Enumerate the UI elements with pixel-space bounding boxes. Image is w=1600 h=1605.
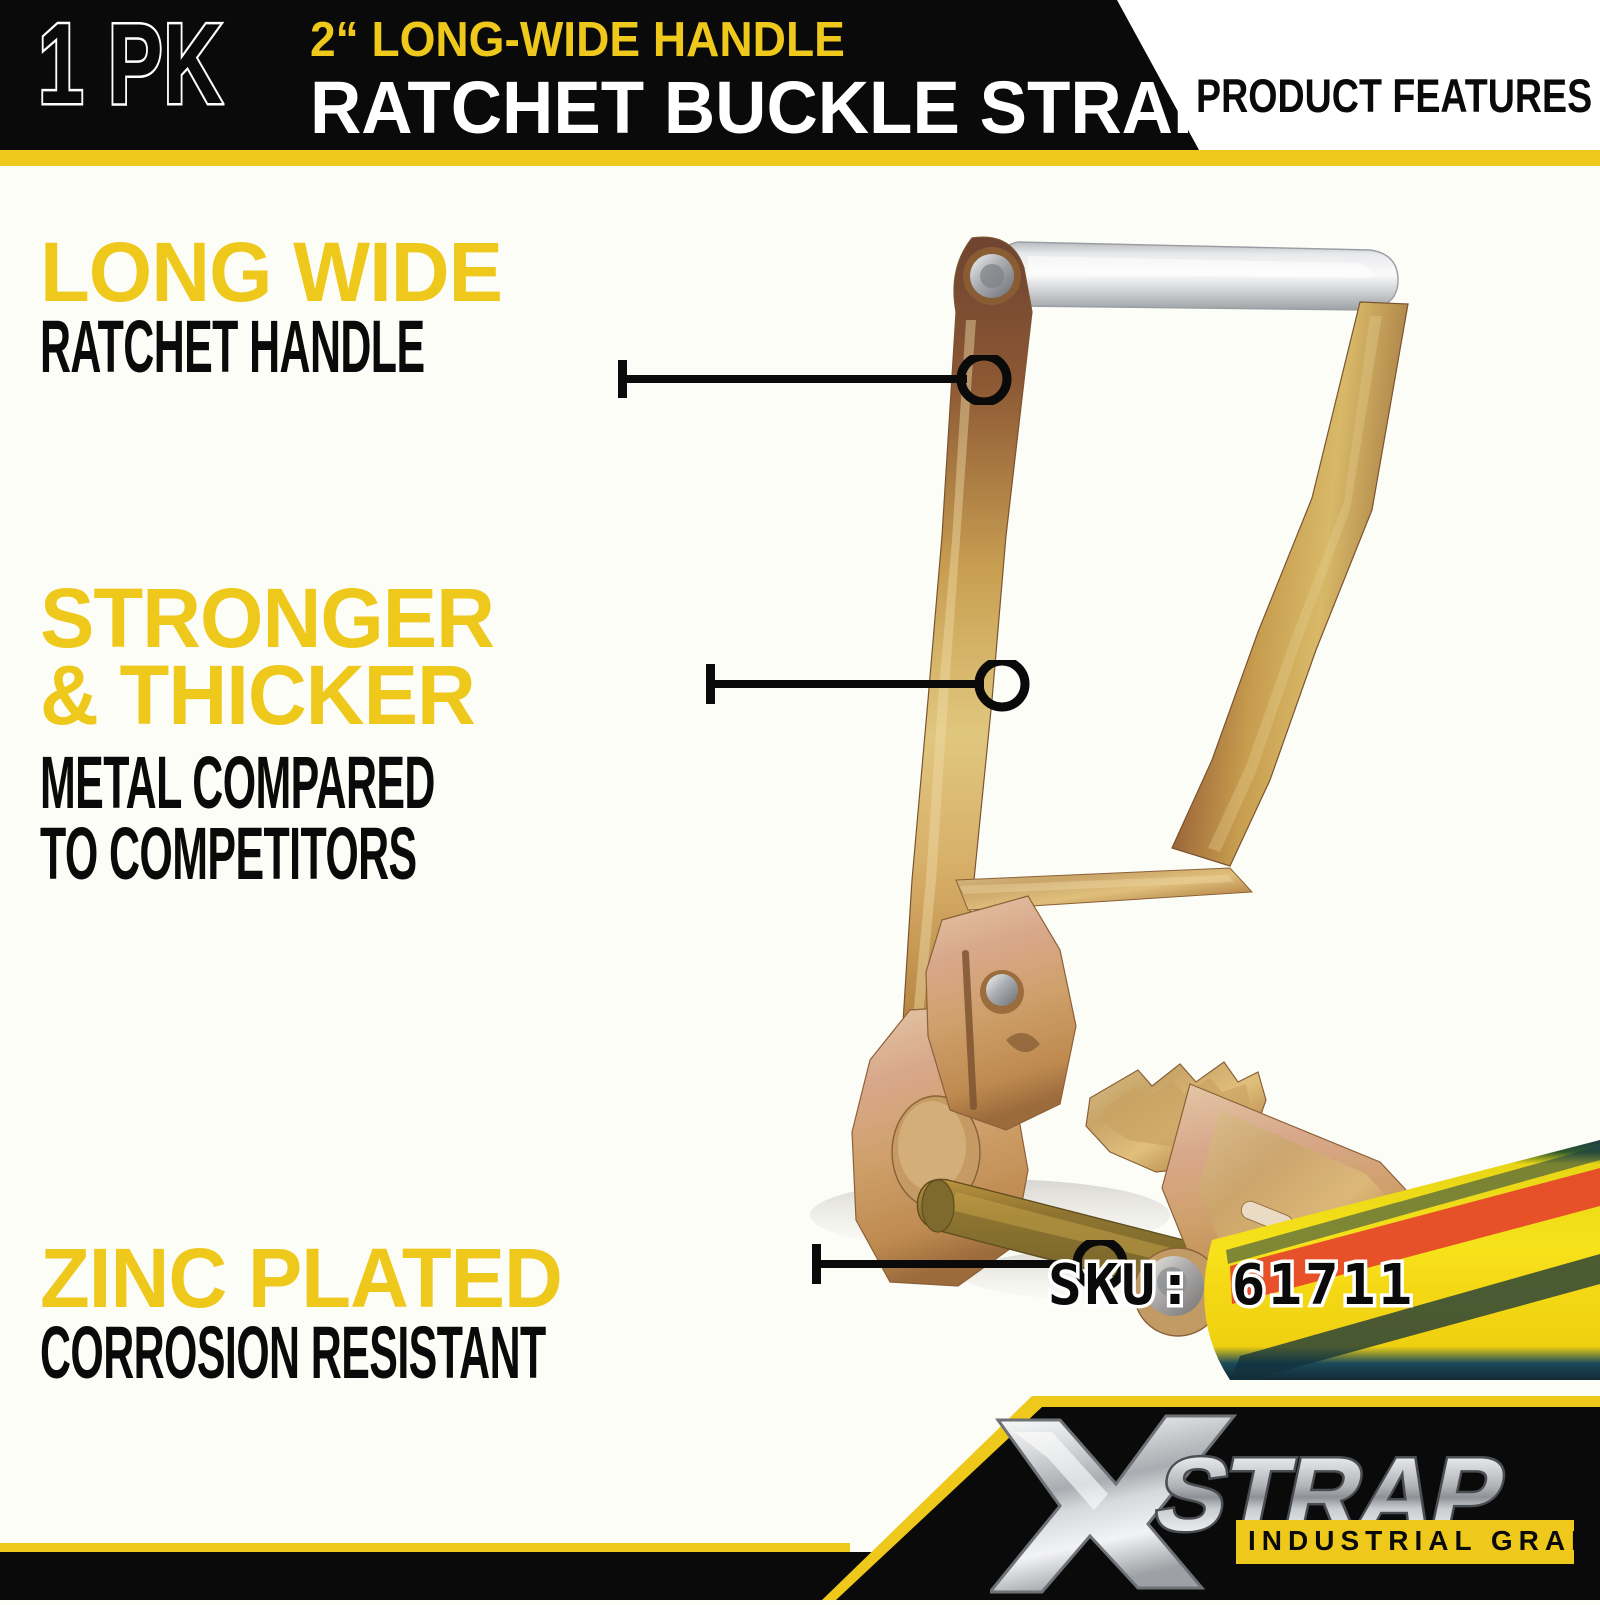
header-accent-rule — [0, 150, 1600, 166]
brand-tagline: INDUSTRIAL GRADE — [1248, 1527, 1600, 1555]
handle-grip-bar — [992, 242, 1398, 310]
callout-line-1 — [618, 355, 1018, 405]
product-title-line-1: 2“ LONG-WIDE HANDLE — [310, 16, 1024, 65]
feature-block-zinc-plated: ZINC PLATED CORROSION RESISTANT — [40, 1240, 912, 1388]
callout-line-2 — [706, 660, 1036, 712]
feature-1-headline: LONG WIDE — [40, 234, 683, 311]
feature-3-headline: ZINC PLATED — [40, 1240, 886, 1317]
header-bar: 1 PK 2“ LONG-WIDE HANDLE RATCHET BUCKLE … — [0, 0, 1600, 166]
feature-3-subline: CORROSION RESISTANT — [40, 1317, 546, 1388]
feature-2-headline-line-1: STRONGER — [40, 580, 700, 657]
pack-quantity-badge: 1 PK — [38, 8, 223, 122]
footer-accent-rule — [0, 1543, 850, 1552]
handle-arm-right — [1172, 302, 1408, 866]
feature-2-subline-line-1: METAL COMPARED — [40, 747, 435, 818]
frame-plate-upper — [926, 896, 1076, 1130]
product-title-line-2: RATCHET BUCKLE STRAPS — [310, 71, 1040, 145]
brand-logo-xstrap: STRAP — [990, 1402, 1600, 1600]
section-label-product-features: PRODUCT FEATURES — [1196, 72, 1592, 119]
feature-2-subline-line-2: TO COMPETITORS — [40, 818, 435, 889]
xstrap-logo-art: STRAP — [990, 1402, 1600, 1600]
feature-block-long-wide-handle: LONG WIDE RATCHET HANDLE — [40, 234, 703, 382]
product-title-block: 2“ LONG-WIDE HANDLE RATCHET BUCKLE STRAP… — [310, 16, 1070, 145]
feature-1-subline: RATCHET HANDLE — [40, 311, 424, 382]
sku-label: SKU: 61711 — [1048, 1258, 1415, 1314]
feature-2-headline-line-2: & THICKER — [40, 657, 700, 734]
feature-block-stronger-thicker: STRONGER & THICKER METAL COMPARED TO COM… — [40, 580, 721, 889]
